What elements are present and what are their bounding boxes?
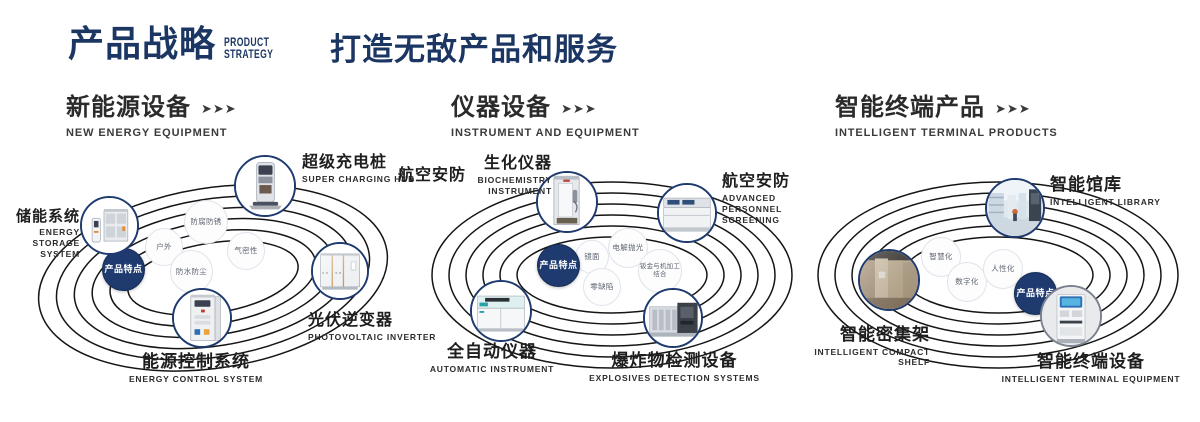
section-title-intelligent-terminal: 智能终端产品 ➤➤➤ INTELLIGENT TERMINAL PRODUCTS — [835, 96, 1058, 139]
node-energy-storage-system[interactable] — [80, 196, 139, 255]
label-biochemistry-instrument: 生化仪器 BIOCHEMISTRY INSTRUMENT — [460, 155, 552, 197]
energy-storage-cabinet-icon — [82, 198, 137, 253]
section-title-cn: 新能源设备 — [66, 96, 191, 120]
pv-inverter-cabinet-icon — [313, 244, 367, 298]
section-title-instrument: 仪器设备 ➤➤➤ INSTRUMENT AND EQUIPMENT — [451, 96, 640, 139]
feature-bubble: 钣金与机加工结合 — [638, 249, 682, 293]
feature-bubble: 零缺陷 — [583, 268, 621, 306]
label-energy-storage-system: 储能系统 ENERGY STORAGE SYSTEM — [2, 208, 80, 259]
section-title-cn: 仪器设备 — [451, 96, 551, 120]
page-title-en: PRODUCT STRATEGY — [224, 36, 273, 60]
label-energy-control-system: 能源控制系统 ENERGY CONTROL SYSTEM — [86, 352, 306, 384]
node-intelligent-terminal-equipment[interactable] — [1040, 285, 1102, 347]
chevrons-right-icon: ➤➤➤ — [561, 102, 597, 115]
automatic-analyzer-icon — [472, 282, 530, 340]
node-intelligent-library[interactable] — [985, 178, 1045, 238]
label-intelligent-compact-shelf: 智能密集架 INTELLIGENT COMPACT SHELF — [790, 325, 930, 368]
chevrons-right-icon: ➤➤➤ — [995, 102, 1031, 115]
page-title-en-line2: STRATEGY — [224, 48, 273, 60]
cluster-new-energy: 户外 防腐防锈 防水防尘 气密性 产品特点 — [20, 145, 420, 405]
self-service-kiosk-icon — [1042, 287, 1100, 345]
control-cabinet-icon — [174, 290, 230, 346]
page-slogan: 打造无敌产品和服务 — [330, 34, 618, 65]
center-feature-badge: 产品特点 — [537, 244, 580, 287]
label-automatic-instrument: 全自动仪器 AUTOMATIC INSTRUMENT — [392, 342, 592, 374]
screening-machine-icon — [659, 185, 715, 241]
label-explosives-detection: 爆炸物检测设备 EXPLOSIVES DETECTION SYSTEMS — [557, 351, 792, 383]
section-title-en: INTELLIGENT TERMINAL PRODUCTS — [835, 127, 1058, 139]
explosives-detector-icon — [645, 290, 701, 346]
page-title: 产品战略 PRODUCT STRATEGY — [68, 26, 292, 62]
feature-bubble: 数字化 — [947, 262, 987, 302]
node-photovoltaic-inverter[interactable] — [311, 242, 369, 300]
page-title-cn: 产品战略 — [68, 26, 216, 62]
node-energy-control-system[interactable] — [172, 288, 232, 348]
chevrons-right-icon: ➤➤➤ — [201, 102, 237, 115]
label-aviation-security-extra: 航空安防 — [394, 167, 466, 185]
node-advanced-personnel-screening[interactable] — [657, 183, 717, 243]
node-explosives-detection[interactable] — [643, 288, 703, 348]
feature-bubble: 气密性 — [227, 232, 265, 270]
cluster-intelligent-terminal: 智慧化 数字化 人性化 产品特点 — [800, 145, 1200, 405]
feature-bubble: 防水防尘 — [170, 250, 213, 293]
section-title-en: NEW ENERGY EQUIPMENT — [66, 127, 237, 139]
cluster-instrument: 镜面 电解抛光 零缺陷 钣金与机加工结合 产品特点 — [412, 145, 812, 405]
label-intelligent-terminal-equipment: 智能终端设备 INTELLIGENT TERMINAL EQUIPMENT — [985, 352, 1197, 384]
section-title-cn: 智能终端产品 — [835, 96, 985, 120]
charging-pile-icon — [236, 157, 294, 215]
node-super-charging-hub[interactable] — [234, 155, 296, 217]
section-title-new-energy: 新能源设备 ➤➤➤ NEW ENERGY EQUIPMENT — [66, 96, 237, 139]
section-title-en: INSTRUMENT AND EQUIPMENT — [451, 127, 640, 139]
node-automatic-instrument[interactable] — [470, 280, 532, 342]
product-strategy-infographic: 产品战略 PRODUCT STRATEGY 打造无敌产品和服务 新能源设备 ➤➤… — [0, 0, 1200, 422]
feature-bubble: 防腐防锈 — [184, 200, 228, 244]
label-intelligent-library: 智能馆库 INTELLIGENT LIBRARY — [1050, 175, 1161, 207]
node-intelligent-compact-shelf[interactable] — [858, 249, 920, 311]
library-hall-photo-icon — [987, 180, 1043, 236]
compact-shelf-photo-icon — [860, 251, 918, 309]
